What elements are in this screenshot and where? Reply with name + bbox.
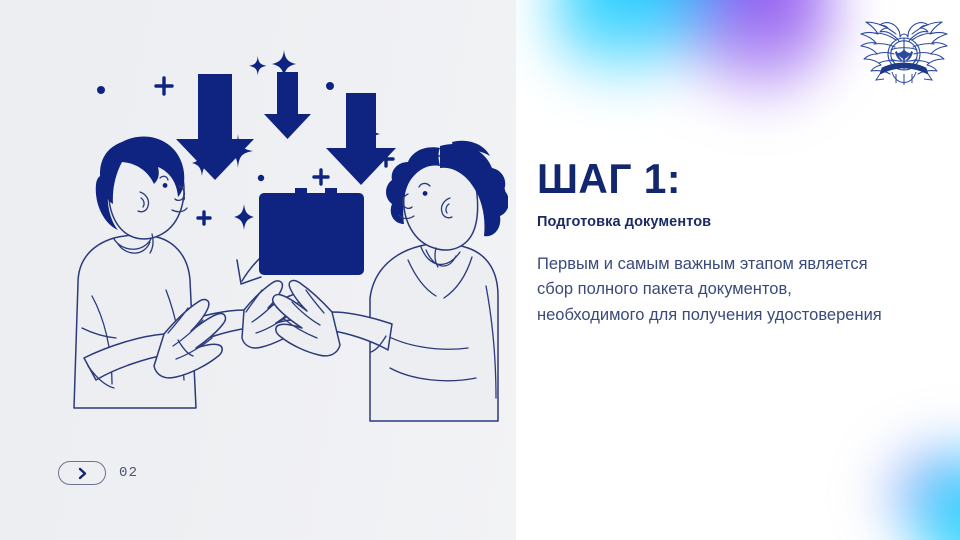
down-arrow-large xyxy=(176,74,254,180)
gradient-blob-bottom-right xyxy=(862,424,960,540)
chevron-right-icon xyxy=(76,467,89,480)
page-title: ШАГ 1: xyxy=(537,158,898,201)
page-number: 02 xyxy=(119,465,138,481)
gradient-blob-top xyxy=(548,0,838,132)
down-arrow-medium xyxy=(326,93,396,185)
briefcase-folder xyxy=(259,188,364,275)
next-slide-button[interactable] xyxy=(58,461,106,485)
illustration-two-people-documents: .ln{fill:none;stroke:#2b3a7a;stroke-widt… xyxy=(48,28,508,428)
double-headed-eagle-emblem-icon xyxy=(856,6,952,92)
slide-root: .ln{fill:none;stroke:#2b3a7a;stroke-widt… xyxy=(0,0,960,540)
person-right xyxy=(273,141,508,421)
down-arrow-small xyxy=(264,72,311,139)
pager: 02 xyxy=(58,461,138,485)
page-subtitle: Подготовка документов xyxy=(537,214,909,230)
page-body-text: Первым и самым важным этапом является сб… xyxy=(537,252,889,329)
text-content-block: ШАГ 1: Подготовка документов Первым и са… xyxy=(537,158,909,329)
